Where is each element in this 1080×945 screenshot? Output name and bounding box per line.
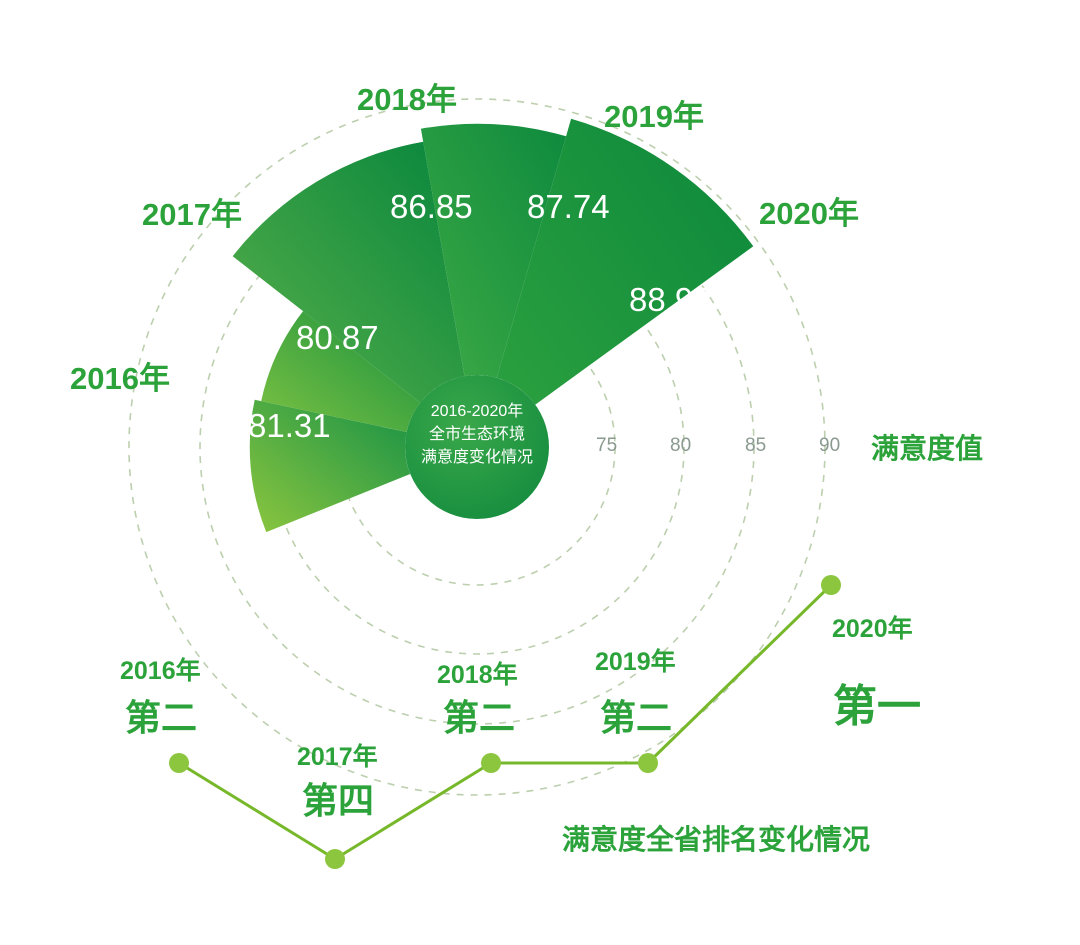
rank-year-label-2018: 2018年 <box>437 663 518 688</box>
wedge-value-2016: 81.31 <box>248 407 331 445</box>
hub-title-line-1: 2016-2020年 <box>377 400 577 423</box>
rank-line-layer <box>0 0 1080 945</box>
wedge-value-2018: 86.85 <box>390 188 473 226</box>
wedge-value-2020: 88.96 <box>629 281 712 319</box>
polar-year-label-2017: 2017年 <box>142 199 242 230</box>
hub-title-line-2: 全市生态环境 <box>377 423 577 446</box>
rank-value-2018: 第二 <box>443 700 515 736</box>
rank-year-label-2020: 2020年 <box>832 617 913 642</box>
rank-marker-2019[interactable] <box>638 753 658 773</box>
hub-title: 2016-2020年 全市生态环境 满意度变化情况 <box>377 400 577 470</box>
polar-year-label-2016: 2016年 <box>70 363 170 394</box>
rank-marker-2018[interactable] <box>481 753 501 773</box>
axis-tick-80: 80 <box>670 435 691 457</box>
infographic-canvas: 2016-2020年 全市生态环境 满意度变化情况 81.31 80.87 86… <box>0 0 1080 945</box>
rank-value-2020: 第一 <box>833 685 921 729</box>
rank-chart-title: 满意度全省排名变化情况 <box>562 818 870 858</box>
polar-year-label-2020: 2020年 <box>759 198 859 229</box>
rank-value-2016: 第二 <box>125 700 197 736</box>
polar-year-label-2019: 2019年 <box>604 101 704 132</box>
rank-year-label-2016: 2016年 <box>120 659 201 684</box>
axis-tick-90: 90 <box>819 435 840 457</box>
rank-year-label-2019: 2019年 <box>595 650 676 675</box>
axis-tick-85: 85 <box>745 435 766 457</box>
axis-title-satisfaction: 满意度值 <box>871 427 983 467</box>
rank-value-2017: 第四 <box>302 783 374 819</box>
rank-value-2019: 第二 <box>600 700 672 736</box>
rank-marker-2016[interactable] <box>169 753 189 773</box>
hub-title-line-3: 满意度变化情况 <box>377 446 577 469</box>
wedge-value-2017: 80.87 <box>296 319 379 357</box>
wedge-value-2019: 87.74 <box>527 188 610 226</box>
rank-marker-2020[interactable] <box>821 575 841 595</box>
axis-tick-75: 75 <box>596 435 617 457</box>
polar-year-label-2018: 2018年 <box>357 84 457 115</box>
rank-year-label-2017: 2017年 <box>297 745 378 770</box>
rank-marker-2017[interactable] <box>325 849 345 869</box>
